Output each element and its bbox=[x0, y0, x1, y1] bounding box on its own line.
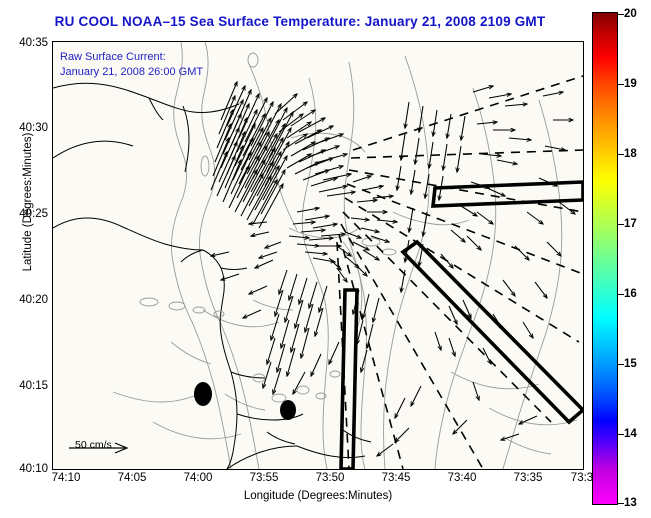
colorbar-tick-15: 15 bbox=[624, 358, 637, 370]
colorbar-tick-19: 19 bbox=[624, 78, 637, 90]
colorbar-ticks: 20 19 18 17 16 15 14 13 bbox=[618, 12, 651, 505]
x-tick-2: 74:00 bbox=[184, 472, 213, 484]
scale-key-arrow-icon bbox=[63, 439, 149, 455]
colorbar-tick-13: 13 bbox=[624, 497, 637, 509]
shipping-lanes bbox=[341, 182, 583, 469]
map-plot-area[interactable]: Raw Surface Current: January 21, 2008 26… bbox=[52, 41, 584, 470]
x-tick-8: 73:3 bbox=[571, 472, 593, 484]
x-tick-3: 73:55 bbox=[250, 472, 279, 484]
y-tick-3: 40:20 bbox=[19, 294, 48, 306]
x-tick-0: 74:10 bbox=[52, 472, 81, 484]
colorbar-tick-14: 14 bbox=[624, 428, 637, 440]
x-tick-7: 73:35 bbox=[514, 472, 543, 484]
colorbar bbox=[592, 12, 618, 505]
radial-dashed-lines bbox=[337, 76, 583, 469]
station-marker bbox=[280, 400, 296, 420]
colorbar-tick-16: 16 bbox=[624, 288, 637, 300]
colorbar-tick-20: 20 bbox=[624, 8, 637, 20]
y-axis-label: Latitude (Degrees:Minutes) bbox=[22, 122, 34, 282]
station-marker bbox=[194, 382, 212, 406]
y-tick-5: 40:10 bbox=[19, 463, 48, 475]
y-tick-4: 40:15 bbox=[19, 380, 48, 392]
x-tick-4: 73:50 bbox=[316, 472, 345, 484]
colorbar-tick-18: 18 bbox=[624, 148, 637, 160]
x-tick-5: 73:45 bbox=[382, 472, 411, 484]
vector-scale-key: 50 cm/s bbox=[63, 439, 173, 451]
station-markers bbox=[194, 382, 296, 420]
map-graphics bbox=[53, 42, 583, 469]
colorbar-tick-17: 17 bbox=[624, 218, 637, 230]
x-tick-1: 74:05 bbox=[118, 472, 147, 484]
x-tick-6: 73:40 bbox=[448, 472, 477, 484]
x-axis-ticks: 74:10 74:05 74:00 73:55 73:50 73:45 73:4… bbox=[52, 472, 584, 492]
y-tick-0: 40:35 bbox=[19, 37, 48, 49]
figure-title: RU COOL NOAA–15 Sea Surface Temperature:… bbox=[0, 14, 600, 29]
figure-root: RU COOL NOAA–15 Sea Surface Temperature:… bbox=[0, 0, 651, 518]
surface-current-vectors bbox=[211, 82, 575, 456]
x-axis-label: Longitude (Degrees:Minutes) bbox=[52, 490, 584, 502]
